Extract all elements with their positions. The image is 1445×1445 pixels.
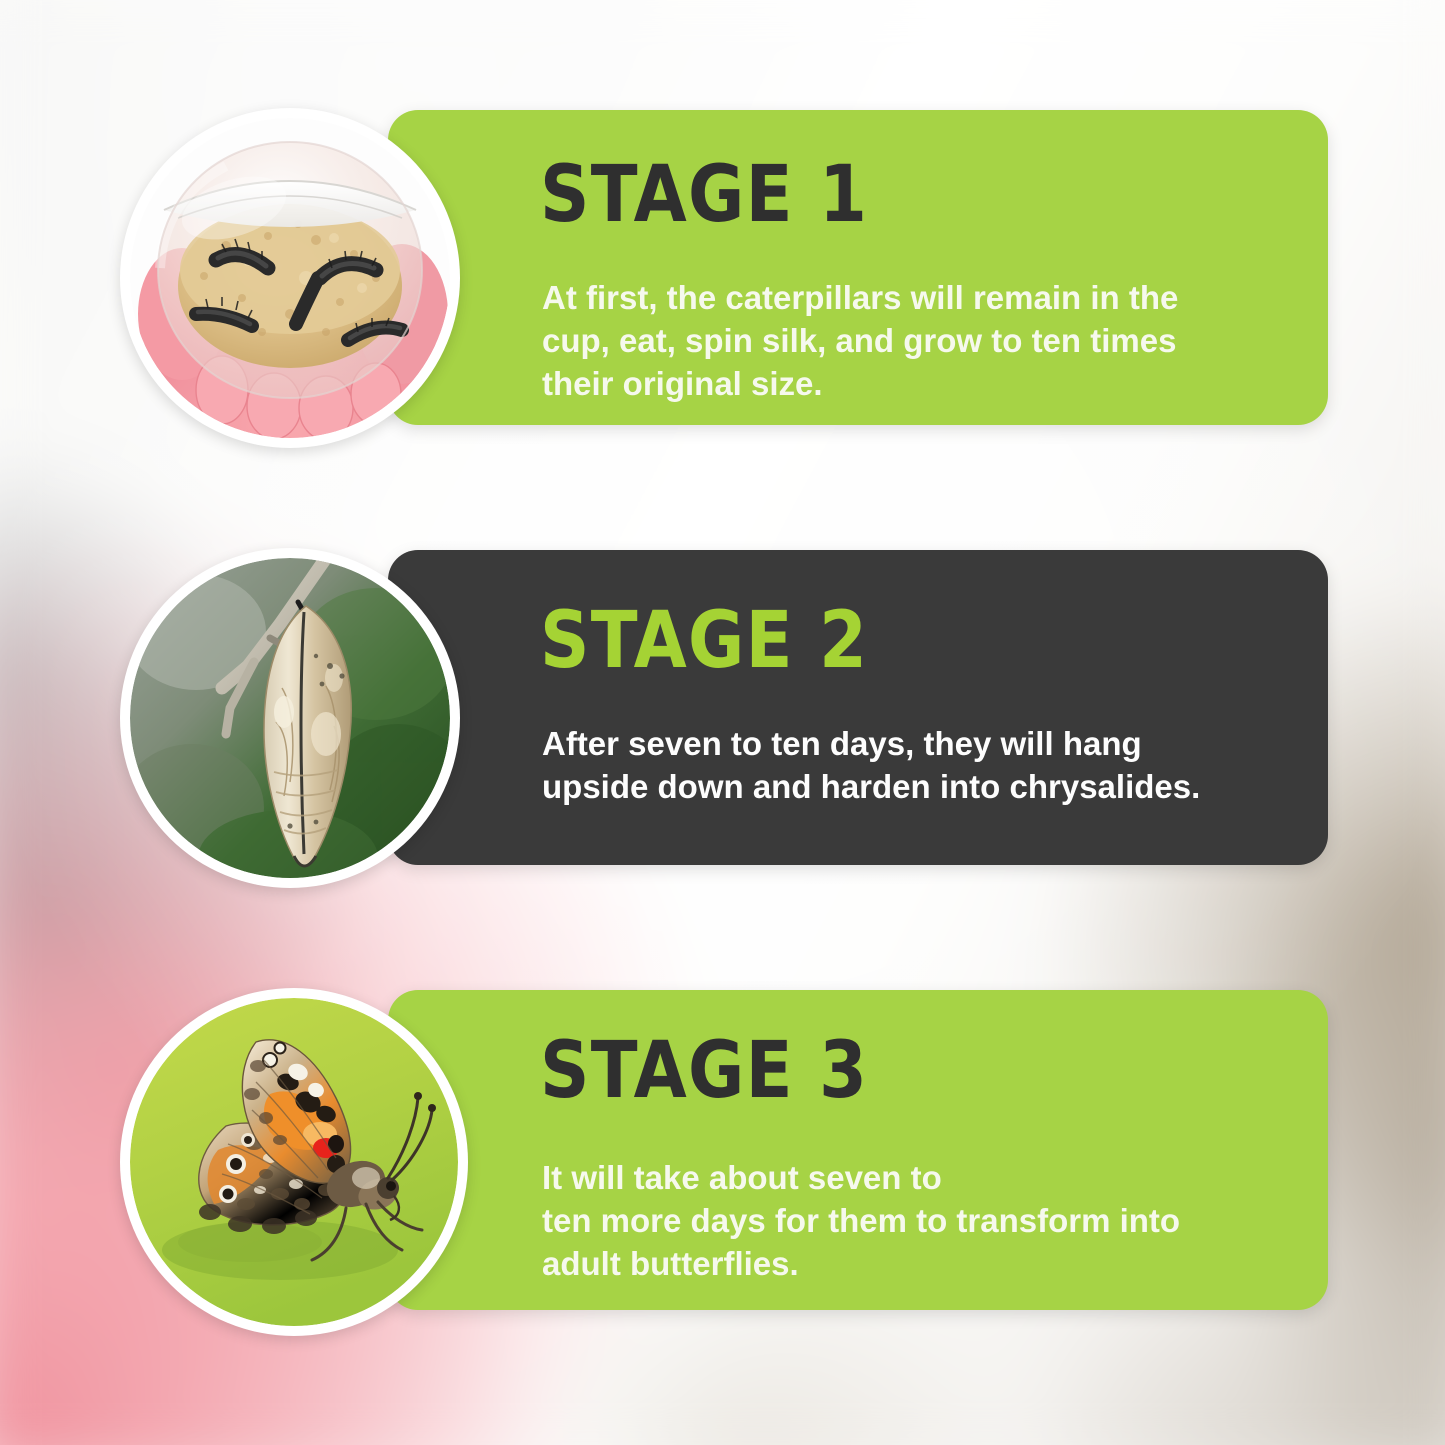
stage-2-body: After seven to ten days, they will hang … <box>542 722 1200 808</box>
stage-3-body: It will take about seven to ten more day… <box>542 1156 1180 1285</box>
stage-3-title: STAGE 3 <box>540 1032 868 1110</box>
stage-1-body: At first, the caterpillars will remain i… <box>542 276 1178 405</box>
stage-3-panel: STAGE 3 It will take about seven to ten … <box>388 990 1328 1310</box>
stage-1-image <box>120 108 460 448</box>
caterpillar-cup-illustration <box>130 118 450 438</box>
stage-1-title: STAGE 1 <box>540 156 868 234</box>
chrysalis-illustration <box>130 558 450 878</box>
stage-3-image <box>120 988 468 1336</box>
infographic-page: STAGE 1 At first, the caterpillars will … <box>0 0 1445 1445</box>
stage-2-title: STAGE 2 <box>540 602 868 680</box>
stage-2-panel: STAGE 2 After seven to ten days, they wi… <box>388 550 1328 865</box>
butterfly-illustration <box>130 998 458 1326</box>
stage-1-panel: STAGE 1 At first, the caterpillars will … <box>388 110 1328 425</box>
stage-2-image <box>120 548 460 888</box>
